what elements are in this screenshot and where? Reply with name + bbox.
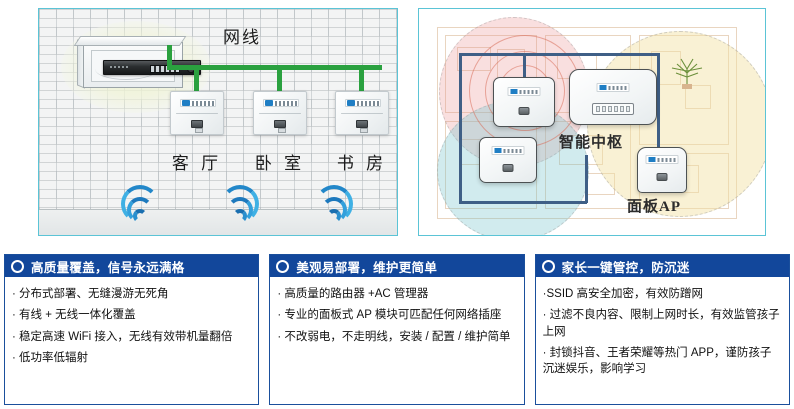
bullet-item: · 不改弱电，不走明线，安装 / 配置 / 维护简单 — [277, 329, 516, 345]
bullet-item: · 专业的面板式 AP 模块可匹配任何网络插座 — [277, 307, 516, 323]
smart-hub-router-device — [569, 69, 657, 125]
feature-panel-deployment: 美观易部署，维护更简单 · 高质量的路由器 +AC 管理器 · 专业的面板式 A… — [269, 254, 524, 405]
wall-ap-faceplate-livingroom — [170, 91, 224, 135]
bullet-item: · 低功率低辐射 — [12, 350, 251, 366]
cable-riser — [167, 45, 172, 67]
wall-ap-faceplate-study — [335, 91, 389, 135]
bullet-item: · 分布式部署、无缝漫游无死角 — [12, 286, 251, 302]
feature-panel-coverage: 高质量覆盖，信号永远满格 · 分布式部署、无缝漫游无死角 · 有线 + 无线一体… — [4, 254, 259, 405]
panel-ap-device-top — [493, 77, 555, 127]
panel-title-parental-control: 家长一键管控，防沉迷 — [562, 257, 690, 276]
ring-bullet-icon — [542, 260, 555, 273]
bullet-item: · 过滤不良内容、限制上网时长，有效监管孩子上网 — [543, 307, 782, 340]
floorplan-background: 智能中枢 面板AP — [419, 9, 765, 235]
panel-header-deployment: 美观易部署，维护更简单 — [270, 255, 523, 277]
bullet-item: · 有线 + 无线一体化覆盖 — [12, 307, 251, 323]
panel-title-coverage: 高质量覆盖，信号永远满格 — [31, 257, 185, 276]
wire-top-run — [459, 53, 659, 56]
bullet-item: · 封锁抖音、王者荣耀等热门 APP，谨防孩子沉迷娱乐，影响学习 — [543, 345, 782, 378]
network-cable-label: 网线 — [223, 23, 261, 48]
panel-body-deployment: · 高质量的路由器 +AC 管理器 · 专业的面板式 AP 模块可匹配任何网络插… — [270, 277, 523, 404]
ring-bullet-icon — [276, 260, 289, 273]
poster-root: 网线 客 厅 卧 室 书 房 — [0, 0, 794, 409]
panel-header-parental-control: 家长一键管控，防沉迷 — [536, 255, 789, 277]
panel-header-coverage: 高质量覆盖，信号永远满格 — [5, 255, 258, 277]
panel-title-deployment: 美观易部署，维护更简单 — [296, 257, 437, 276]
wall-ap-faceplate-bedroom — [253, 91, 307, 135]
panel-body-parental-control: ·SSID 高安全加密，有效防蹭网 · 过滤不良内容、限制上网时长，有效监管孩子… — [536, 277, 789, 404]
weak-current-cabinet-icon — [77, 36, 189, 92]
room-label-livingroom: 客 厅 — [162, 149, 232, 174]
panel-ap-device-left — [479, 137, 537, 183]
bullet-item: · 高质量的路由器 +AC 管理器 — [277, 286, 516, 302]
wire-drop-ap-left — [585, 155, 588, 203]
room-label-study: 书 房 — [327, 149, 397, 174]
ring-bullet-icon — [11, 260, 24, 273]
smart-hub-label: 智能中枢 — [559, 131, 623, 152]
coverage-floorplan-diagram: 智能中枢 面板AP — [418, 8, 766, 236]
wifi-signal-icon-2 — [217, 189, 263, 223]
wire-bottom-run — [459, 201, 587, 204]
panel-body-coverage: · 分布式部署、无缝漫游无死角 · 有线 + 无线一体化覆盖 · 稳定高速 Wi… — [5, 277, 258, 404]
cable-drop-3 — [359, 65, 364, 93]
panel-ap-device-right — [637, 147, 687, 193]
wifi-signal-icon-1 — [117, 189, 163, 223]
cable-drop-2 — [277, 65, 282, 93]
bullet-item: ·SSID 高安全加密，有效防蹭网 — [543, 286, 782, 302]
panel-ap-label: 面板AP — [627, 195, 681, 216]
feature-panels: 高质量覆盖，信号永远满格 · 分布式部署、无缝漫游无死角 · 有线 + 无线一体… — [4, 254, 790, 405]
bullet-item: · 稳定高速 WiFi 接入，无线有效带机量翻倍 — [12, 329, 251, 345]
feature-panel-parental-control: 家长一键管控，防沉迷 ·SSID 高安全加密，有效防蹭网 · 过滤不良内容、限制… — [535, 254, 790, 405]
cable-trunk — [167, 65, 382, 70]
wifi-signal-icon-3 — [311, 189, 357, 223]
room-label-bedroom: 卧 室 — [245, 149, 315, 174]
plant-icon — [669, 55, 705, 89]
cable-drop-1 — [194, 65, 199, 93]
wire-left-riser — [459, 53, 462, 203]
wired-topology-diagram: 网线 客 厅 卧 室 书 房 — [38, 8, 398, 236]
